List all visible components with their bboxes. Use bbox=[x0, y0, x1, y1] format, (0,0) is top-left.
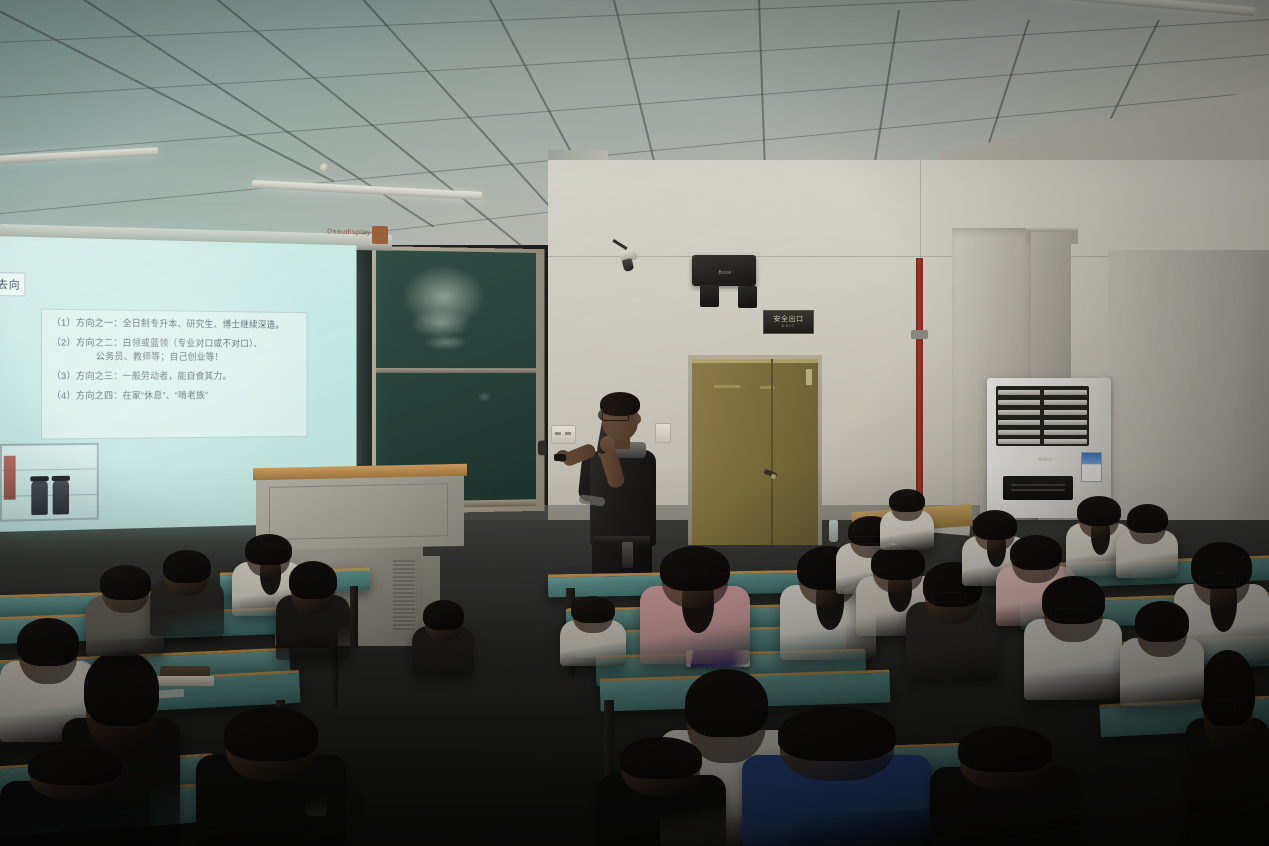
student-hair bbox=[163, 550, 211, 583]
student-hair bbox=[84, 650, 159, 726]
student-hair bbox=[958, 726, 1052, 772]
audience bbox=[0, 0, 1269, 846]
student bbox=[930, 720, 1080, 846]
student-glasses bbox=[1208, 700, 1240, 718]
student bbox=[560, 592, 626, 666]
student bbox=[412, 596, 474, 676]
student bbox=[276, 556, 350, 660]
student bbox=[640, 540, 750, 664]
student-glasses bbox=[931, 592, 966, 603]
student-hair bbox=[1127, 504, 1168, 533]
student-hair bbox=[423, 600, 464, 630]
student bbox=[880, 486, 934, 550]
student-hair bbox=[620, 737, 702, 779]
student-hair bbox=[100, 565, 151, 600]
student bbox=[596, 732, 726, 846]
student-hair bbox=[660, 546, 730, 591]
student-glasses bbox=[1199, 573, 1235, 585]
student-hair bbox=[28, 747, 122, 785]
student-hair bbox=[224, 707, 318, 761]
student bbox=[1024, 570, 1122, 700]
student-hair bbox=[1077, 496, 1121, 526]
student bbox=[150, 546, 224, 636]
student bbox=[0, 742, 150, 846]
student bbox=[1120, 596, 1204, 706]
student bbox=[196, 700, 346, 846]
student-hair bbox=[1135, 601, 1189, 642]
student-hair bbox=[1010, 535, 1062, 570]
student bbox=[742, 700, 932, 846]
student-hair bbox=[889, 489, 925, 512]
student-hair bbox=[571, 596, 615, 623]
student-hair bbox=[778, 707, 896, 761]
student-glasses bbox=[1050, 608, 1087, 620]
student-hair bbox=[289, 561, 337, 599]
lecture-hall-photo: Dsaudisplay 业去向 （1）方向之一：全日制专升本、研究生、博士继续深… bbox=[0, 0, 1269, 846]
student bbox=[1116, 500, 1178, 578]
